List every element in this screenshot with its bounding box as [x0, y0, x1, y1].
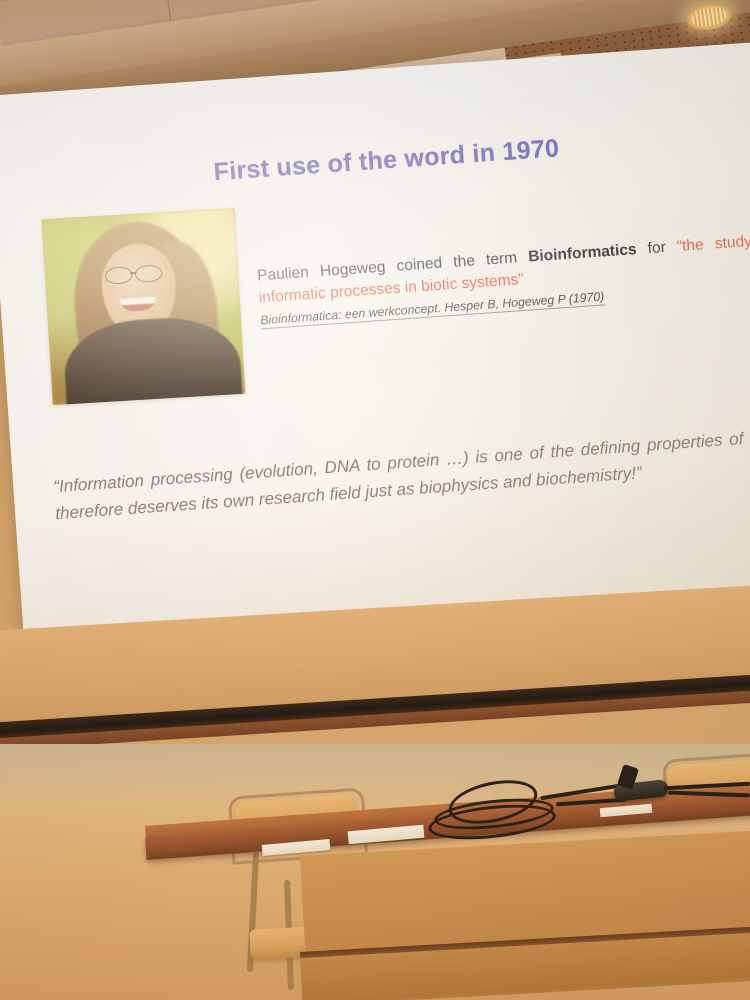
lecture-hall-photo: First use of the word in 1970 Paulien Ho…: [0, 0, 750, 1000]
paulien-hogeweg-portrait: [42, 208, 246, 405]
body-text-part2: for: [636, 238, 678, 258]
page-title: First use of the word in 1970: [0, 119, 750, 203]
body-term-bioinformatics: Bioinformatics: [528, 241, 637, 266]
projection-screen: First use of the word in 1970 Paulien Ho…: [0, 41, 750, 675]
slide-quote: “Information processing (evolution, DNA …: [53, 421, 750, 528]
slide-surface: First use of the word in 1970 Paulien Ho…: [0, 41, 750, 675]
slide-body-block: Paulien Hogeweg coined the term Bioinfor…: [256, 229, 750, 329]
